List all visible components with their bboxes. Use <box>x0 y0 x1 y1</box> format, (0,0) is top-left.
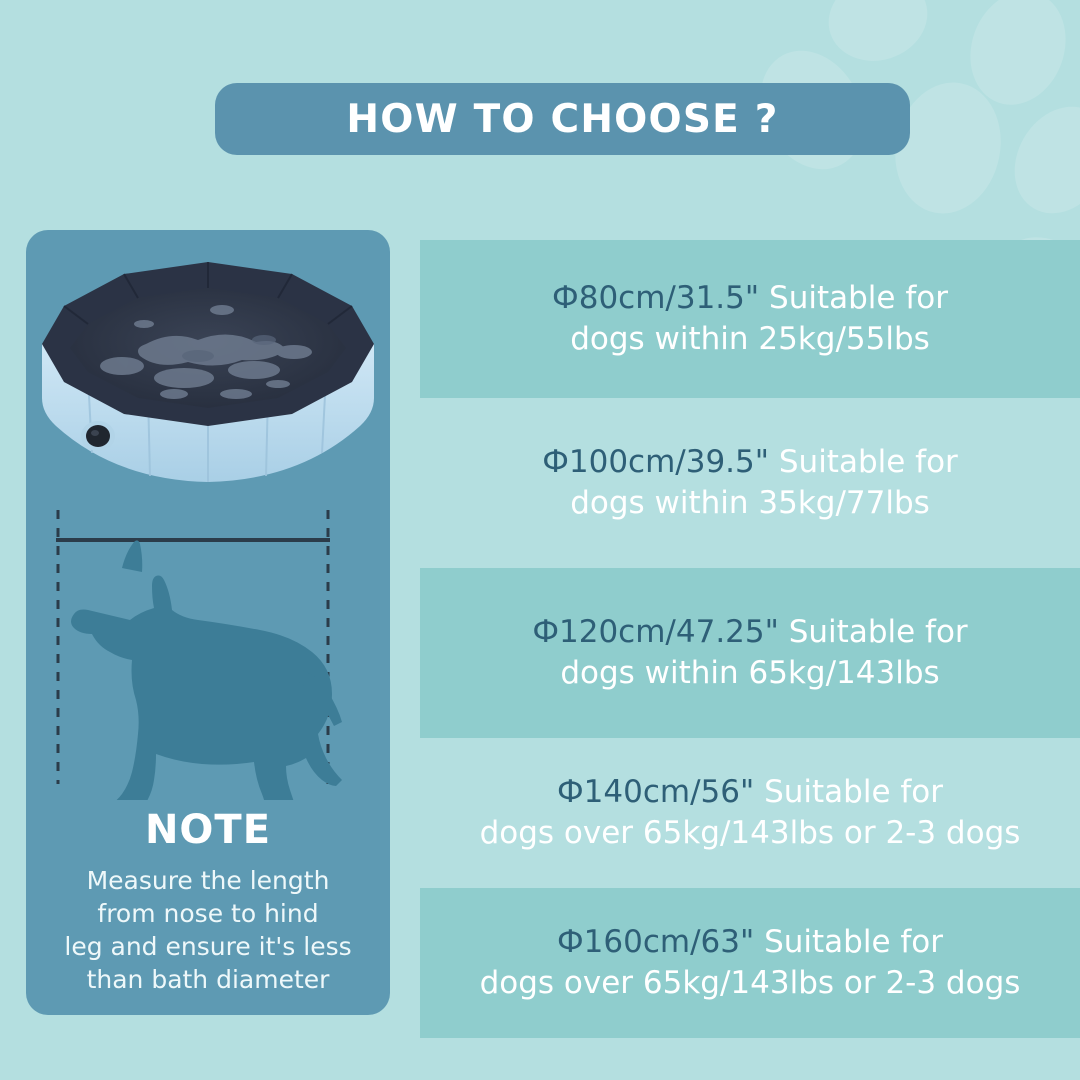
page-title: HOW TO CHOOSE ? <box>346 97 778 142</box>
note-line: than bath diameter <box>44 963 372 996</box>
size-dimension: Ф80cm/31.5" <box>552 280 759 316</box>
size-row-line1: Ф80cm/31.5" Suitable for <box>552 278 948 319</box>
size-suitability: Suitable for <box>754 924 943 960</box>
dog-silhouette-shape <box>71 540 342 800</box>
size-row-line2: dogs within 35kg/77lbs <box>570 483 930 524</box>
size-suitability: Suitable for <box>779 614 968 650</box>
left-info-panel: NOTE Measure the length from nose to hin… <box>26 230 390 1015</box>
size-row: Ф120cm/47.25" Suitable for dogs within 6… <box>420 568 1080 738</box>
dog-measurement-diagram <box>26 502 390 800</box>
size-row: Ф140cm/56" Suitable for dogs over 65kg/1… <box>420 738 1080 888</box>
note-block: NOTE Measure the length from nose to hin… <box>26 810 390 996</box>
size-row-line1: Ф140cm/56" Suitable for <box>557 772 943 813</box>
infographic-canvas: HOW TO CHOOSE ? <box>0 0 1080 1080</box>
size-suitability: Suitable for <box>769 444 958 480</box>
size-row: Ф160cm/63" Suitable for dogs over 65kg/1… <box>420 888 1080 1038</box>
size-row-line2: dogs over 65kg/143lbs or 2-3 dogs <box>480 813 1021 854</box>
size-row: Ф80cm/31.5" Suitable for dogs within 25k… <box>420 240 1080 398</box>
size-row-line1: Ф100cm/39.5" Suitable for <box>542 442 958 483</box>
size-row-line1: Ф120cm/47.25" Suitable for <box>532 612 967 653</box>
title-banner: HOW TO CHOOSE ? <box>215 83 910 155</box>
size-suitability: Suitable for <box>759 280 948 316</box>
size-row: Ф100cm/39.5" Suitable for dogs within 35… <box>420 398 1080 568</box>
size-row-line2: dogs within 65kg/143lbs <box>560 653 939 694</box>
size-row-line2: dogs over 65kg/143lbs or 2-3 dogs <box>480 963 1021 1004</box>
size-row-line1: Ф160cm/63" Suitable for <box>557 922 943 963</box>
size-suitability: Suitable for <box>754 774 943 810</box>
note-title: NOTE <box>26 810 390 850</box>
size-dimension: Ф140cm/56" <box>557 774 754 810</box>
note-line: leg and ensure it's less <box>44 930 372 963</box>
foldable-dog-pool-photo <box>26 248 390 498</box>
note-body: Measure the length from nose to hind leg… <box>26 864 390 996</box>
note-line: Measure the length <box>44 864 372 897</box>
size-dimension: Ф120cm/47.25" <box>532 614 779 650</box>
drain-plug <box>81 421 115 451</box>
size-dimension: Ф100cm/39.5" <box>542 444 769 480</box>
note-line: from nose to hind <box>44 897 372 930</box>
size-row-line2: dogs within 25kg/55lbs <box>570 319 930 360</box>
size-dimension: Ф160cm/63" <box>557 924 754 960</box>
